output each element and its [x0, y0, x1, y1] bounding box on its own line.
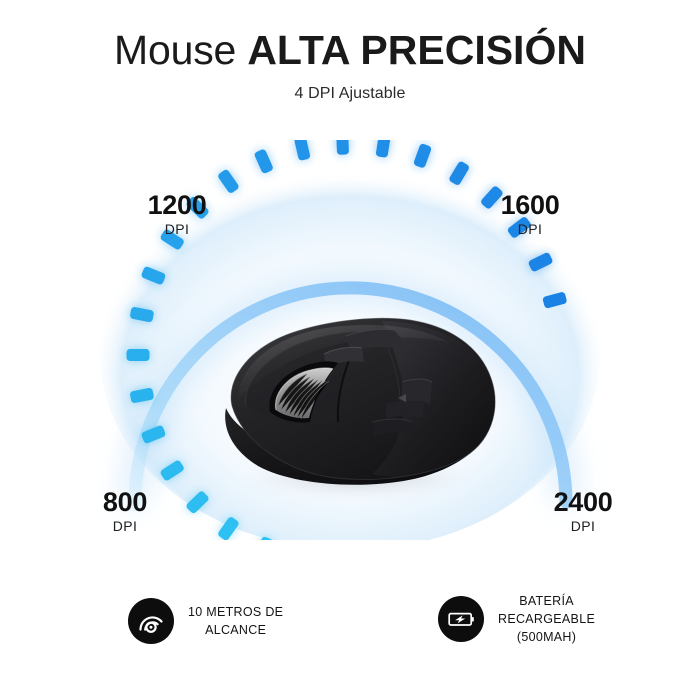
header: Mouse ALTA PRECISIÓN 4 DPI Ajustable: [0, 26, 700, 103]
dpi-unit-2400: DPI: [523, 517, 643, 535]
page-title-light: Mouse: [114, 27, 247, 73]
dpi-value-2400: 2400: [523, 487, 643, 517]
feature-range-line-2: ALCANCE: [188, 621, 283, 639]
feature-range-line-1: 10 METROS DE: [188, 603, 283, 621]
dpi-value-1600: 1600: [470, 190, 590, 220]
dpi-value-800: 800: [65, 487, 185, 517]
feature-battery-line-2: RECARGEABLE: [498, 610, 595, 628]
feature-battery-line-3: (500MAH): [498, 628, 595, 646]
feature-battery-line-1: BATERÍA: [498, 592, 595, 610]
feature-row: 10 METROS DE ALCANCE BATERÍA RECARGEABLE…: [0, 592, 700, 678]
dpi-dial: 1200 DPI 1600 DPI 800 DPI 2400 DPI: [0, 140, 700, 540]
feature-battery: BATERÍA RECARGEABLE (500MAH): [438, 592, 595, 646]
mouse-graphic: [186, 288, 516, 503]
feature-range-label: 10 METROS DE ALCANCE: [188, 603, 283, 639]
rechargeable-battery-icon: [438, 596, 484, 642]
product-image: [186, 288, 516, 503]
page-title: Mouse ALTA PRECISIÓN: [0, 26, 700, 74]
dpi-unit-1600: DPI: [470, 220, 590, 238]
dpi-unit-800: DPI: [65, 517, 185, 535]
feature-range: 10 METROS DE ALCANCE: [128, 598, 283, 644]
product-banner: Mouse ALTA PRECISIÓN 4 DPI Ajustable: [0, 0, 700, 700]
page-subtitle: 4 DPI Ajustable: [0, 85, 700, 103]
dpi-label-800: 800 DPI: [65, 487, 185, 535]
wireless-signal-icon: [128, 598, 174, 644]
page-title-bold: ALTA PRECISIÓN: [247, 27, 586, 73]
dpi-unit-1200: DPI: [117, 220, 237, 238]
dpi-value-1200: 1200: [117, 190, 237, 220]
dpi-label-2400: 2400 DPI: [523, 487, 643, 535]
dpi-label-1600: 1600 DPI: [470, 190, 590, 238]
dpi-label-1200: 1200 DPI: [117, 190, 237, 238]
feature-battery-label: BATERÍA RECARGEABLE (500MAH): [498, 592, 595, 646]
